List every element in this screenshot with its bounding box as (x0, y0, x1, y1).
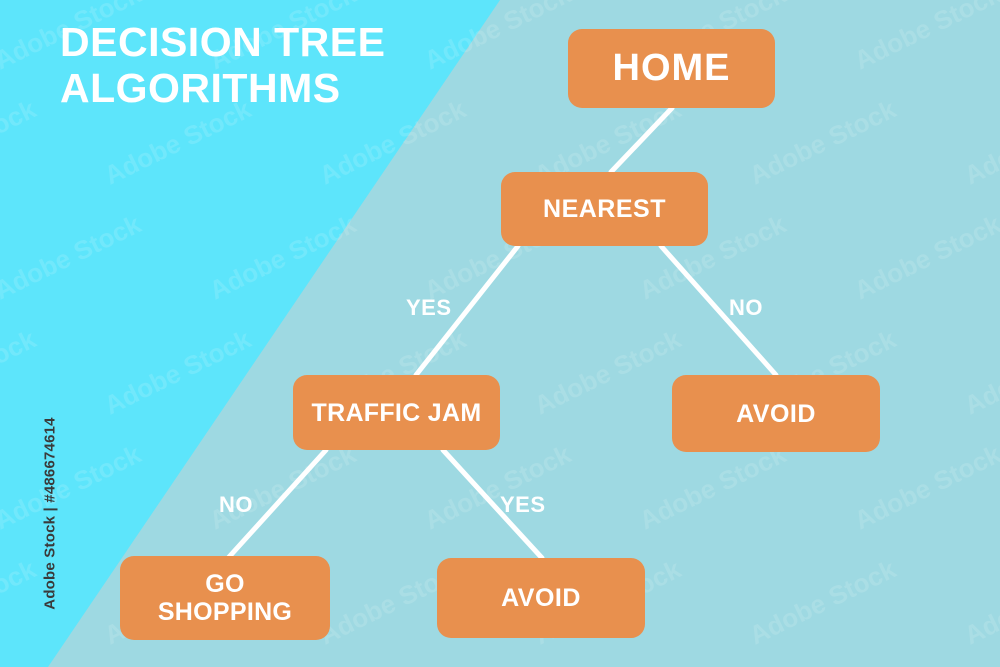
node-traffic-jam-label: TRAFFIC JAM (312, 399, 482, 427)
title-line-2: ALGORITHMS (60, 66, 480, 112)
node-go-shopping[interactable]: GO SHOPPING (120, 556, 330, 640)
edge-label-no-traffic-shopping: NO (219, 492, 253, 518)
node-avoid-right[interactable]: AVOID (672, 375, 880, 452)
node-go-shopping-label-line-1: GO (205, 570, 245, 598)
edge-label-yes-nearest-traffic: YES (406, 295, 452, 321)
page-title: DECISION TREE ALGORITHMS (60, 20, 480, 112)
edge-label-no-nearest-avoid: NO (729, 295, 763, 321)
node-go-shopping-label-line-2: SHOPPING (158, 598, 292, 626)
title-line-1: DECISION TREE (60, 19, 385, 65)
node-traffic-jam[interactable]: TRAFFIC JAM (293, 375, 500, 450)
node-avoid-bottom-label: AVOID (501, 584, 581, 612)
node-nearest[interactable]: NEAREST (501, 172, 708, 246)
node-go-shopping-label: GO SHOPPING (158, 570, 292, 626)
node-avoid-right-label: AVOID (736, 400, 816, 428)
node-home[interactable]: HOME (568, 29, 775, 108)
diagram-canvas: Adobe StockAdobe StockAdobe StockAdobe S… (0, 0, 1000, 667)
node-nearest-label: NEAREST (543, 195, 666, 223)
edge-label-yes-traffic-avoid: YES (500, 492, 546, 518)
node-home-label: HOME (613, 47, 731, 90)
stock-watermark-id: Adobe Stock | #486674614 (42, 389, 59, 639)
node-avoid-bottom[interactable]: AVOID (437, 558, 645, 638)
edge-home-to-nearest (611, 108, 672, 172)
